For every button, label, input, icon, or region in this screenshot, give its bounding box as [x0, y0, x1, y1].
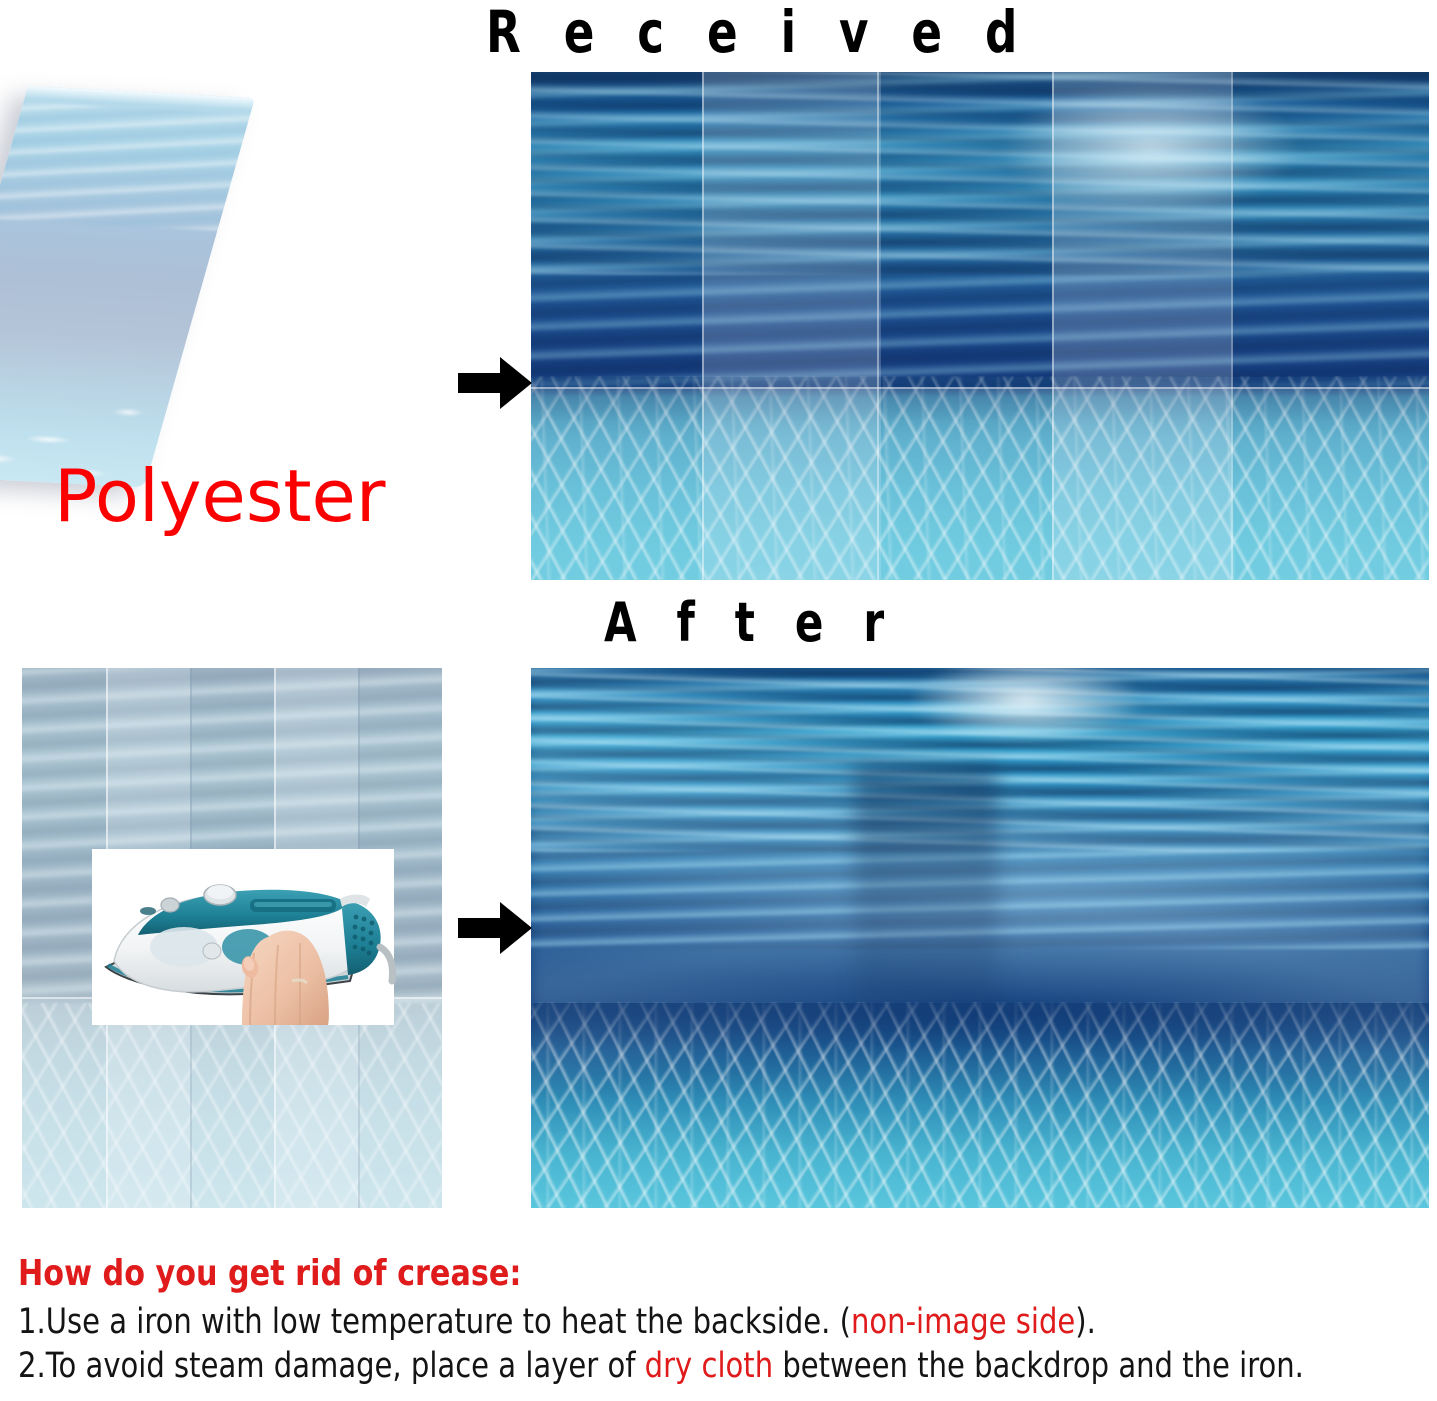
instruction-2-suffix: between the backdrop and the iron.: [773, 1346, 1304, 1386]
infographic-page: R e c e i v e d Polyester: [0, 0, 1437, 1401]
seabed-depth-shade: [531, 1003, 1429, 1208]
polyester-label: Polyester: [54, 458, 385, 534]
right-arrow-icon: [458, 900, 532, 956]
fabric-swatch-image: [0, 86, 255, 488]
instruction-1-highlight: non-image side: [851, 1302, 1075, 1342]
instruction-line-1: 1.Use a iron with low temperature to hea…: [18, 1300, 1188, 1344]
instructions-block: How do you get rid of crease: 1.Use a ir…: [18, 1252, 1428, 1388]
after-section-title: A f t e r: [604, 594, 897, 652]
instruction-line-2: 2.To avoid steam damage, place a layer o…: [18, 1344, 1188, 1388]
swatch-ripple-texture: [0, 100, 255, 231]
polyester-swatch-panel: [0, 60, 460, 520]
instruction-1-suffix: ).: [1075, 1302, 1096, 1342]
instruction-1-prefix: 1.Use a iron with low temperature to hea…: [18, 1302, 851, 1342]
iron-spray-button: [161, 898, 179, 912]
horizontal-crease: [22, 997, 442, 1208]
instruction-2-prefix: 2.To avoid steam damage, place a layer o…: [18, 1346, 645, 1386]
crease-overlay: [531, 72, 1429, 580]
seabed: [531, 1003, 1429, 1208]
instruction-2-highlight: dry cloth: [645, 1346, 773, 1386]
received-section-title: R e c e i v e d: [486, 2, 1031, 62]
received-backdrop-photo: [531, 72, 1429, 580]
right-arrow-icon: [458, 355, 532, 411]
steam-iron-photo: [92, 849, 394, 1025]
after-backdrop-photo: [531, 668, 1429, 1208]
instructions-heading: How do you get rid of crease:: [18, 1252, 1202, 1296]
horizontal-crease-line: [531, 387, 1429, 389]
iron-dial: [203, 943, 221, 959]
horizontal-crease: [531, 387, 1429, 580]
